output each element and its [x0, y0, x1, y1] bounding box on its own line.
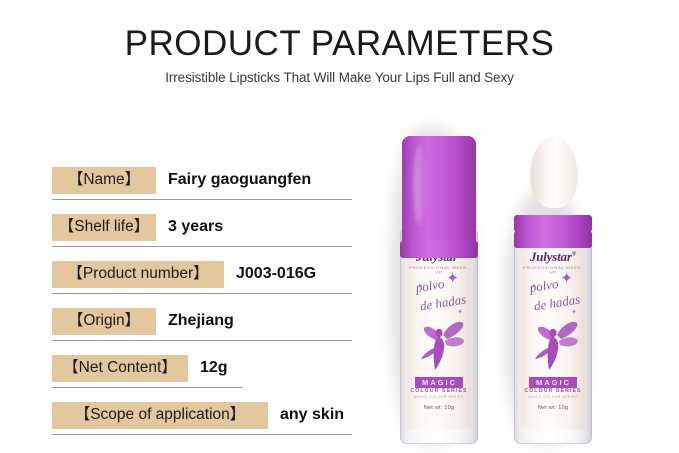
spec-label-net-content: 【Net Content】 [52, 355, 188, 382]
spec-label-product-number: 【Product number】 [52, 261, 224, 288]
bottle-cap-ring [400, 241, 478, 258]
colour-series-sublabel: MAGIC COLOUR SERIES [407, 395, 471, 399]
table-row: 【Shelf life】 3 years [52, 211, 362, 247]
brand-tagline: PROFESSIONAL MAKE-UP [521, 266, 585, 275]
bottle-tube: Julystar® PROFESSIONAL MAKE-UP ✦ ✦ ✦ pol… [514, 229, 592, 444]
net-weight-label: Net wt: 10g [407, 405, 471, 411]
cap-highlight [414, 145, 425, 226]
product-parameters-table: 【Name】 Fairy gaoguangfen 【Shelf life】 3 … [52, 164, 362, 446]
table-row: 【Product number】 J003-016G [52, 258, 362, 294]
spec-value-shelf-life: 3 years [168, 218, 223, 236]
brand-name: Julystar® [521, 249, 585, 265]
fairy-icon [533, 319, 579, 376]
bottle-label-sleeve: Julystar® PROFESSIONAL MAKE-UP ✦ ✦ ✦ pol… [521, 235, 585, 429]
magic-badge: MAGIC [415, 377, 463, 388]
spec-label-origin: 【Origin】 [52, 308, 156, 335]
row-divider [52, 434, 352, 435]
table-row: 【Scope of application】 any skin [52, 399, 362, 435]
product-bottle-open: Julystar® PROFESSIONAL MAKE-UP ✦ ✦ ✦ pol… [514, 114, 596, 444]
product-photo: Julystar® PROFESSIONAL MAKE-UP ✦ ✦ ✦ pol… [386, 104, 661, 444]
spec-label-scope-of-application: 【Scope of application】 [52, 402, 268, 429]
bottle-cap [402, 136, 476, 248]
spec-value-net-content: 12g [200, 359, 228, 377]
product-bottle-capped: Julystar® PROFESSIONAL MAKE-UP ✦ ✦ ✦ pol… [400, 114, 482, 444]
bottle-collar-lower [514, 231, 592, 248]
row-divider [52, 246, 352, 247]
colour-series-label: COLOUR SERIES [521, 388, 585, 394]
spec-value-origin: Zhejiang [168, 312, 234, 330]
page-subtitle: Irresistible Lipsticks That Will Make Yo… [0, 70, 679, 85]
table-row: 【Name】 Fairy gaoguangfen [52, 164, 362, 200]
spec-label-shelf-life: 【Shelf life】 [52, 214, 156, 241]
spec-value-scope-of-application: any skin [280, 406, 344, 424]
colour-series-label: COLOUR SERIES [407, 388, 471, 394]
spec-label-name: 【Name】 [52, 167, 156, 194]
page-title: PRODUCT PARAMETERS [0, 26, 679, 61]
brand-tagline: PROFESSIONAL MAKE-UP [407, 266, 471, 275]
row-divider [52, 293, 352, 294]
bottle-collar-upper [514, 215, 592, 232]
table-row: 【Origin】 Zhejiang [52, 305, 362, 341]
sparkle-icon: ✦ [457, 309, 463, 316]
page-header: PRODUCT PARAMETERS Irresistible Lipstick… [0, 26, 679, 85]
colour-series-sublabel: MAGIC COLOUR SERIES [521, 395, 585, 399]
row-divider [52, 199, 352, 200]
sparkle-icon: ✦ [571, 309, 577, 316]
bottle-label-sleeve: Julystar® PROFESSIONAL MAKE-UP ✦ ✦ ✦ pol… [407, 235, 471, 429]
fairy-icon [419, 319, 465, 376]
sponge-applicator [530, 136, 578, 208]
row-divider [52, 340, 352, 341]
spec-value-product-number: J003-016G [236, 265, 316, 283]
magic-badge: MAGIC [529, 377, 577, 388]
bottle-tube: Julystar® PROFESSIONAL MAKE-UP ✦ ✦ ✦ pol… [400, 229, 478, 444]
net-weight-label: Net wt: 10g [521, 405, 585, 411]
spec-value-name: Fairy gaoguangfen [168, 171, 311, 189]
row-divider [52, 387, 242, 388]
table-row: 【Net Content】 12g [52, 352, 362, 388]
